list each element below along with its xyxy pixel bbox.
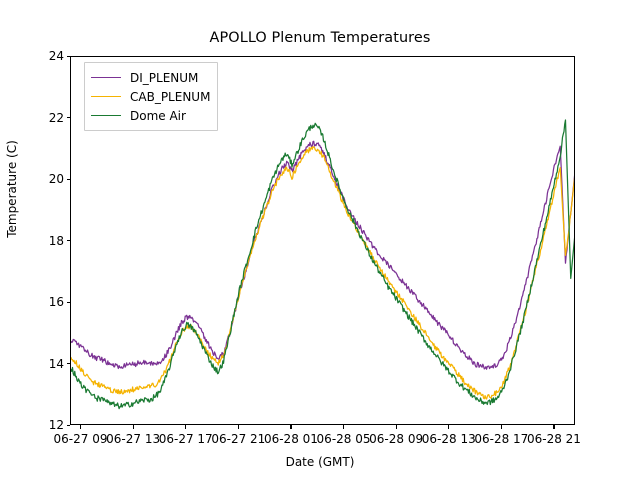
y-axis-label: Temperature (C) [5, 19, 19, 359]
legend-item-label: Dome Air [130, 109, 186, 123]
x-tick-mark [396, 425, 397, 429]
x-tick-mark [80, 425, 81, 429]
x-tick-mark [343, 425, 344, 429]
x-tick-mark [238, 425, 239, 429]
y-tick-label: 22 [24, 112, 64, 124]
chart-legend: DI_PLENUMCAB_PLENUMDome Air [84, 62, 218, 131]
y-tick-label: 16 [24, 296, 64, 308]
y-tick-label: 18 [24, 235, 64, 247]
chart-figure: APOLLO Plenum Temperatures Temperature (… [0, 0, 640, 480]
legend-item[interactable]: CAB_PLENUM [91, 87, 210, 106]
legend-item-label: CAB_PLENUM [130, 90, 210, 104]
legend-color-swatch [91, 96, 121, 97]
series-line-dome-air [71, 120, 575, 409]
x-tick-mark [448, 425, 449, 429]
legend-color-swatch [91, 115, 121, 116]
x-tick-mark [553, 425, 554, 429]
x-axis-label: Date (GMT) [0, 455, 640, 469]
series-line-di-plenum [71, 141, 575, 369]
legend-item[interactable]: DI_PLENUM [91, 68, 210, 87]
x-tick-mark [501, 425, 502, 429]
x-tick-label: 06-28 21 [494, 432, 614, 446]
chart-title: APOLLO Plenum Temperatures [0, 30, 640, 46]
legend-item[interactable]: Dome Air [91, 106, 210, 125]
y-tick-label: 14 [24, 358, 64, 370]
x-tick-mark [185, 425, 186, 429]
x-tick-mark [133, 425, 134, 429]
legend-color-swatch [91, 77, 121, 78]
y-tick-label: 12 [24, 419, 64, 431]
y-tick-label: 24 [24, 50, 64, 62]
y-tick-label: 20 [24, 173, 64, 185]
legend-item-label: DI_PLENUM [130, 71, 198, 85]
x-tick-mark [290, 425, 291, 429]
